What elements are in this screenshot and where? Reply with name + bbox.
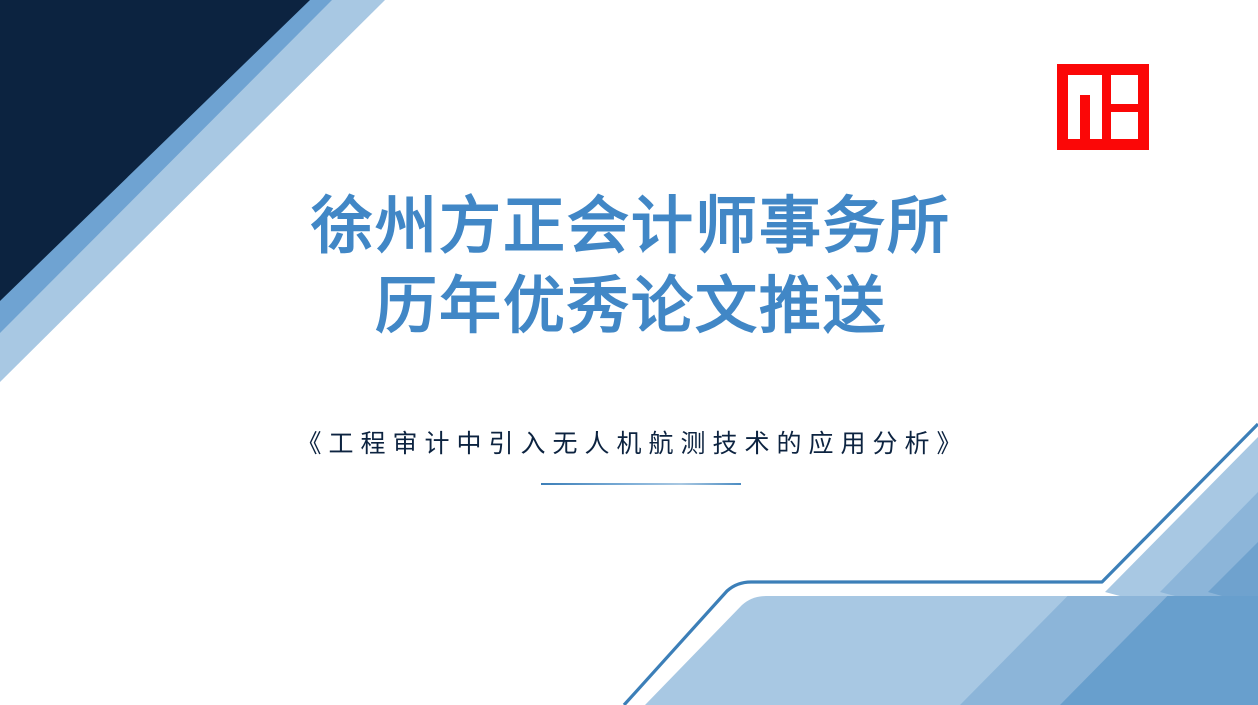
fangzheng-logo-icon <box>1057 64 1149 150</box>
presentation-slide: 徐州方正会计师事务所 历年优秀论文推送 《工程审计中引入无人机航测技术的应用分析… <box>0 0 1258 705</box>
title-line-two: 历年优秀论文推送 <box>0 266 1258 346</box>
paper-title-subtitle: 《工程审计中引入无人机航测技术的应用分析》 <box>289 429 968 458</box>
subtitle-row: 《工程审计中引入无人机航测技术的应用分析》 <box>0 424 1258 460</box>
banner-band-dark <box>1060 504 1258 705</box>
banner-fill-light <box>645 596 1258 705</box>
slide-title-block: 徐州方正会计师事务所 历年优秀论文推送 <box>0 186 1258 346</box>
banner-wedge-mid <box>1160 492 1258 596</box>
logo-right-lower-block <box>1111 112 1138 139</box>
logo-left-stem <box>1080 95 1090 139</box>
subtitle-divider-line <box>541 483 741 485</box>
banner-wedge-dark <box>1208 542 1258 596</box>
logo-right-upper-block <box>1111 75 1138 104</box>
title-line-one: 徐州方正会计师事务所 <box>0 186 1258 266</box>
banner-outline-stroke <box>624 424 1258 705</box>
banner-wedge-light <box>1105 437 1258 596</box>
